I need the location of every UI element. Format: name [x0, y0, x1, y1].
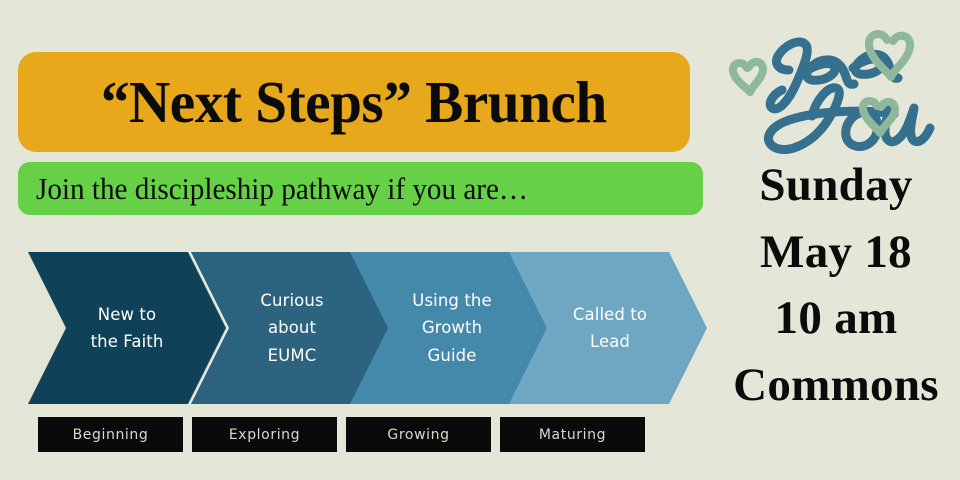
schedule-date: May 18	[712, 219, 960, 286]
event-schedule: Sunday May 18 10 am Commons	[712, 152, 960, 419]
heart-icon-left	[733, 62, 763, 92]
discipleship-pathway: New to the Faith Curious about EUMC Usin…	[28, 252, 704, 408]
stage-chip-exploring: Exploring	[192, 417, 337, 452]
stage-chip-beginning-label: Beginning	[73, 427, 149, 443]
subtitle-banner: Join the discipleship pathway if you are…	[18, 162, 703, 215]
schedule-location: Commons	[712, 352, 960, 419]
title-banner: “Next Steps” Brunch	[18, 52, 690, 152]
schedule-day: Sunday	[712, 152, 960, 219]
stage-chip-beginning: Beginning	[38, 417, 183, 452]
stage-chip-exploring-label: Exploring	[229, 427, 300, 443]
pathway-step-4: Called to Lead	[509, 252, 707, 404]
poster-subtitle: Join the discipleship pathway if you are…	[36, 173, 528, 204]
stage-chip-maturing: Maturing	[500, 417, 645, 452]
stage-chip-growing-label: Growing	[387, 427, 449, 443]
see-you-script-art	[716, 8, 960, 160]
poster-title: “Next Steps” Brunch	[101, 73, 607, 132]
stage-chip-growing: Growing	[346, 417, 491, 452]
chevron-shape-4	[509, 252, 707, 404]
stage-chip-maturing-label: Maturing	[539, 427, 606, 443]
see-you-script-icon	[716, 8, 960, 160]
schedule-time: 10 am	[712, 285, 960, 352]
poster-canvas: “Next Steps” Brunch Join the discipleshi…	[0, 0, 960, 480]
